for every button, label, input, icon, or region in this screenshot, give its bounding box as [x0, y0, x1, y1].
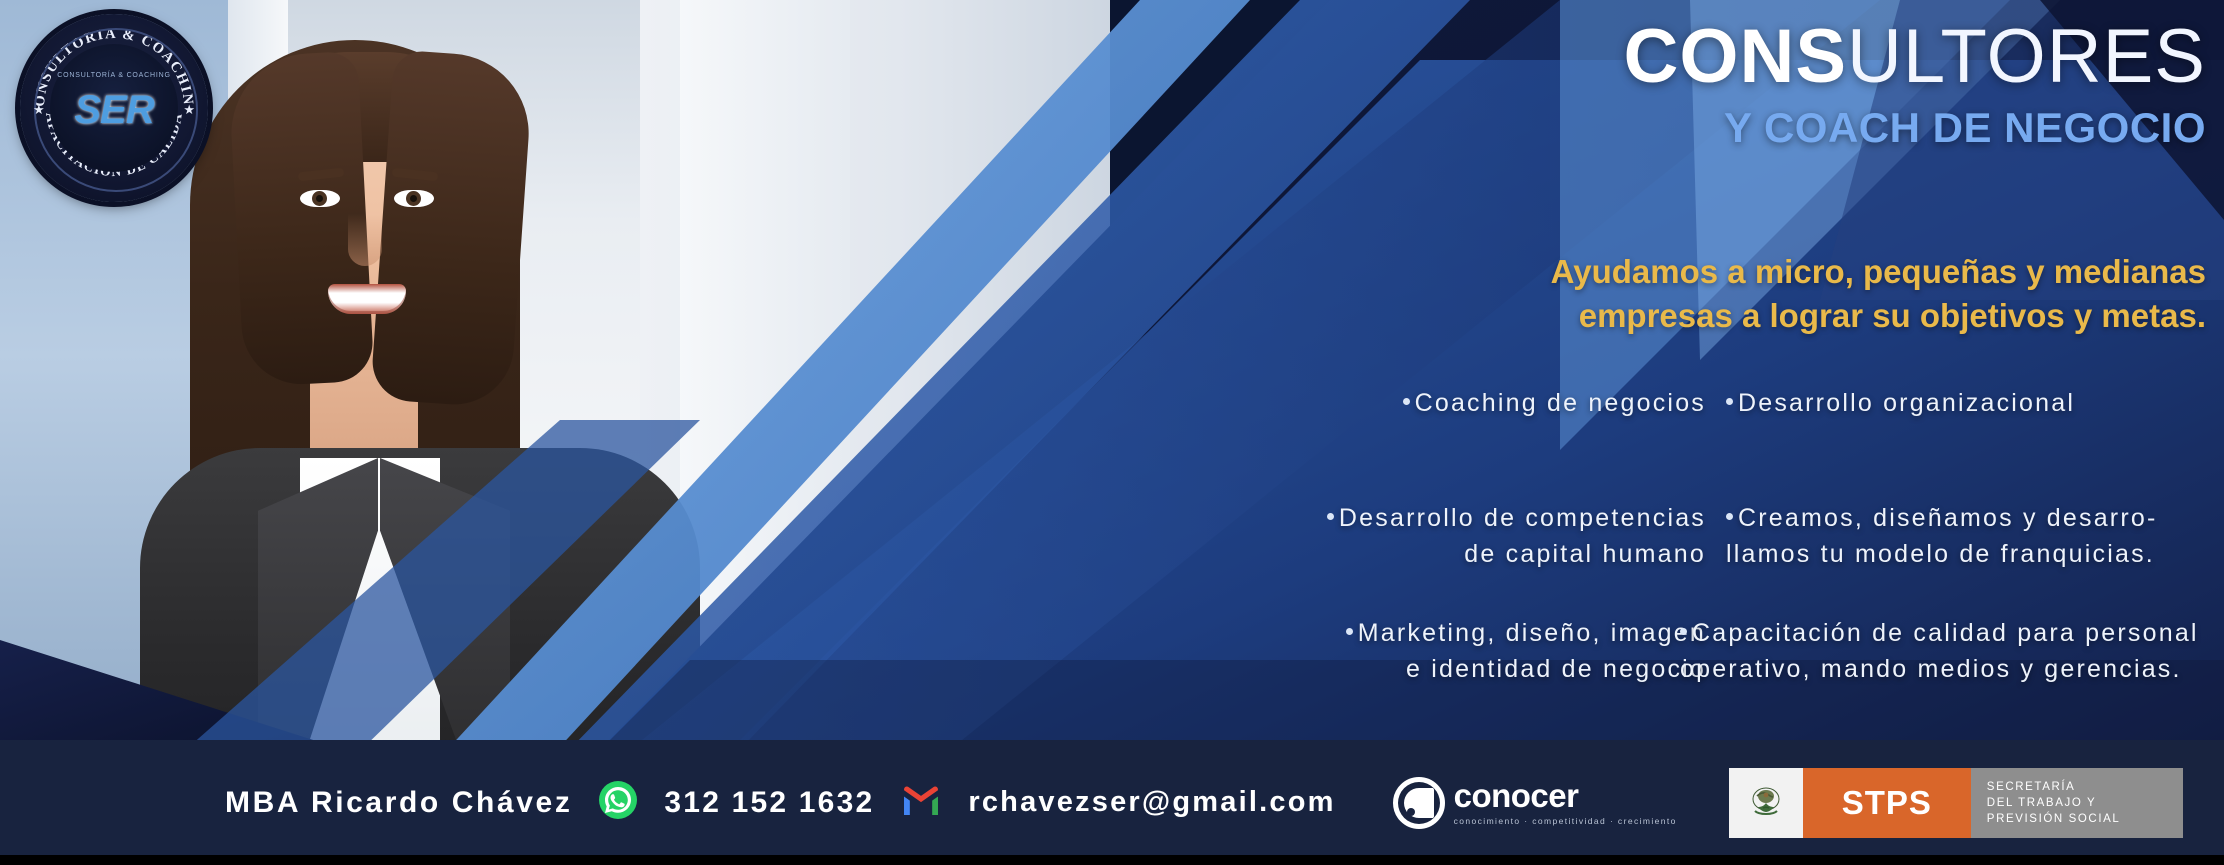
- contact-bar: MBA Ricardo Chávez 312 152 1632: [0, 740, 2224, 865]
- eye-left: [300, 190, 340, 207]
- conocer-logo: conocer conocimiento · competitividad · …: [1392, 776, 1677, 830]
- service-text: Capacitación de calidad para personal: [1692, 619, 2199, 647]
- stps-line-1: SECRETARÍA: [1987, 779, 2183, 795]
- services-row: Coaching de negocios Desarrollo organiza…: [1240, 385, 2224, 500]
- service-text-line2: e identidad de negocio: [1346, 651, 1706, 687]
- service-text-line2: llamos tu modelo de franquicias.: [1726, 536, 2158, 572]
- ser-logo-badge: CONSULTORIA & COACHING CAPACITACIÓN DE C…: [20, 14, 208, 202]
- eye-right: [394, 190, 434, 207]
- whatsapp-icon[interactable]: [598, 780, 638, 825]
- badge-star-right: ★: [183, 102, 195, 118]
- gmail-icon[interactable]: [900, 784, 942, 821]
- contact-email[interactable]: rchavezser@gmail.com: [968, 786, 1335, 819]
- businesswoman-portrait: [150, 18, 670, 790]
- content-panel: CONSULTORES Y COACH DE NEGOCIO Ayudamos …: [1240, 0, 2224, 790]
- title-bold: CONS: [1623, 14, 1847, 99]
- services-row: Marketing, diseño, imagen e identidad de…: [1240, 615, 2224, 730]
- stps-line-3: PREVISIÓN SOCIAL: [1987, 811, 2183, 827]
- hair-front-right: [370, 50, 534, 409]
- service-item-right-2: Creamos, diseñamos y desarro- llamos tu …: [1726, 500, 2158, 572]
- contact-phone[interactable]: 312 152 1632: [664, 786, 874, 820]
- page-subtitle: Y COACH DE NEGOCIO: [1724, 104, 2206, 152]
- service-item-right-1: Desarrollo organizacional: [1726, 385, 2075, 421]
- badge-star-left: ★: [33, 102, 45, 118]
- badge-monogram: SER: [20, 88, 208, 133]
- bullet-dot-icon: [1403, 398, 1410, 405]
- stps-acronym: STPS: [1803, 768, 1971, 838]
- bullet-dot-icon: [1726, 513, 1733, 520]
- promotional-banner: CONSULTORIA & COACHING CAPACITACIÓN DE C…: [0, 0, 2224, 865]
- mexico-coat-of-arms-icon: [1729, 768, 1803, 838]
- service-text: Coaching de negocios: [1415, 389, 1706, 417]
- service-text: Marketing, diseño, imagen: [1358, 619, 1706, 647]
- service-item-left-1: Coaching de negocios: [1403, 385, 1706, 421]
- contact-name: MBA Ricardo Chávez: [225, 786, 572, 820]
- badge-kicker: CONSULTORÍA & COACHING: [20, 72, 208, 79]
- page-title: CONSULTORES: [1623, 18, 2206, 96]
- service-item-left-2: Desarrollo de competencias de capital hu…: [1327, 500, 1706, 572]
- conocer-tagline: conocimiento · competitividad · crecimie…: [1454, 816, 1677, 826]
- stps-line-2: DEL TRABAJO Y: [1987, 795, 2183, 811]
- service-text-line2: de capital humano: [1327, 536, 1706, 572]
- service-item-right-3: Capacitación de calidad para personal op…: [1680, 615, 2199, 687]
- services-list: Coaching de negocios Desarrollo organiza…: [1240, 385, 2224, 730]
- service-text: Desarrollo de competencias: [1339, 504, 1706, 532]
- stps-logo: STPS SECRETARÍA DEL TRABAJO Y PREVISIÓN …: [1729, 768, 2183, 838]
- service-text: Creamos, diseñamos y desarro-: [1738, 504, 2158, 532]
- nose: [348, 214, 382, 266]
- bullet-dot-icon: [1346, 628, 1353, 635]
- title-light: ULTORES: [1847, 14, 2206, 99]
- bullet-dot-icon: [1327, 513, 1334, 520]
- service-text: Desarrollo organizacional: [1738, 389, 2075, 417]
- services-row: Desarrollo de competencias de capital hu…: [1240, 500, 2224, 615]
- smile: [328, 284, 406, 314]
- tagline-line-2: empresas a lograr su objetivos y metas.: [1266, 294, 2206, 338]
- tagline-line-1: Ayudamos a micro, pequeñas y medianas: [1266, 250, 2206, 294]
- bottom-edge: [0, 855, 2224, 865]
- conocer-wordmark: conocer: [1454, 777, 1579, 814]
- bullet-dot-icon: [1726, 398, 1733, 405]
- service-text-line2: operativo, mando medios y gerencias.: [1680, 651, 2199, 687]
- conocer-mark-icon: [1392, 776, 1446, 830]
- stps-department-name: SECRETARÍA DEL TRABAJO Y PREVISIÓN SOCIA…: [1971, 768, 2183, 838]
- service-item-left-3: Marketing, diseño, imagen e identidad de…: [1346, 615, 1706, 687]
- photo-wall-band: [680, 0, 850, 790]
- tagline: Ayudamos a micro, pequeñas y medianas em…: [1266, 250, 2206, 338]
- bullet-dot-icon: [1680, 628, 1687, 635]
